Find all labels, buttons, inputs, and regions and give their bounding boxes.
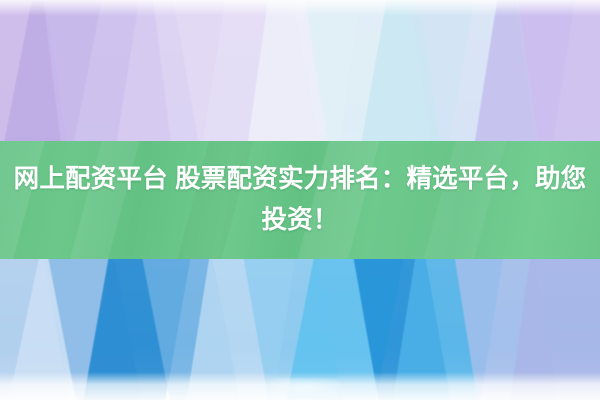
background-facets-bottom <box>0 258 600 400</box>
headline-line-2: 投资！ <box>261 200 338 241</box>
promo-banner: 网上配资平台 股票配资实力排名：精选平台，助您 投资！ <box>0 0 600 400</box>
headline-line-1: 网上配资平台 股票配资实力排名：精选平台，助您 <box>14 159 587 200</box>
headline: 网上配资平台 股票配资实力排名：精选平台，助您 投资！ <box>0 141 600 259</box>
background-facets-top <box>0 0 600 142</box>
